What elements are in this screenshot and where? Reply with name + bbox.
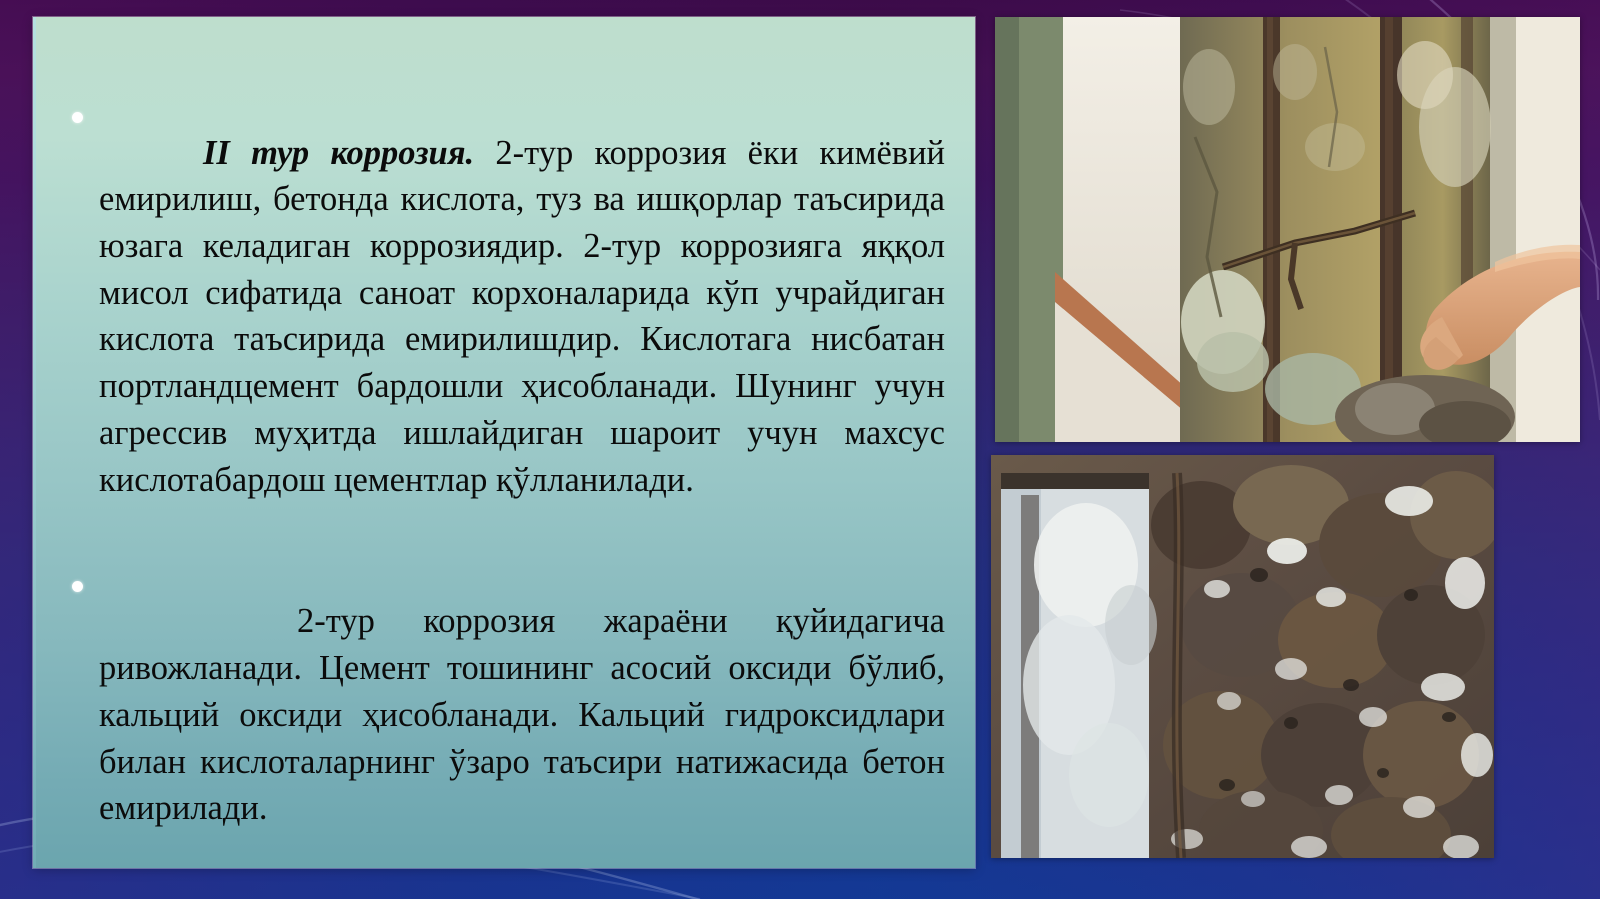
- bullet-marker-cell: [55, 95, 99, 123]
- paragraph-text: 2-тур коррозия жараёни қуйидагича ривожл…: [99, 598, 945, 832]
- bullet-marker-cell: [55, 564, 99, 592]
- white-dot-bullet-icon: [72, 581, 83, 592]
- deteriorated-concrete-surface-photo: [991, 455, 1494, 858]
- bullet-paragraph: II тур коррозия. 2-тур коррозия ёки кимё…: [55, 95, 945, 538]
- paragraph-text: II тур коррозия. 2-тур коррозия ёки кимё…: [99, 130, 945, 504]
- presentation-slide: II тур коррозия. 2-тур коррозия ёки кимё…: [0, 0, 1600, 899]
- bullet-paragraph: 2-тур коррозия жараёни қуйидагича ривожл…: [55, 564, 945, 867]
- lead-term: II тур коррозия.: [203, 134, 474, 172]
- text-content-panel: II тур коррозия. 2-тур коррозия ёки кимё…: [33, 17, 975, 868]
- paragraph-body: 2-тур коррозия жараёни қуйидагича ривожл…: [99, 602, 945, 827]
- paragraph-body: 2-тур коррозия ёки кимёвий емирилиш, бет…: [99, 134, 945, 499]
- corroded-concrete-column-with-hand-photo: [995, 17, 1580, 442]
- white-dot-bullet-icon: [72, 112, 83, 123]
